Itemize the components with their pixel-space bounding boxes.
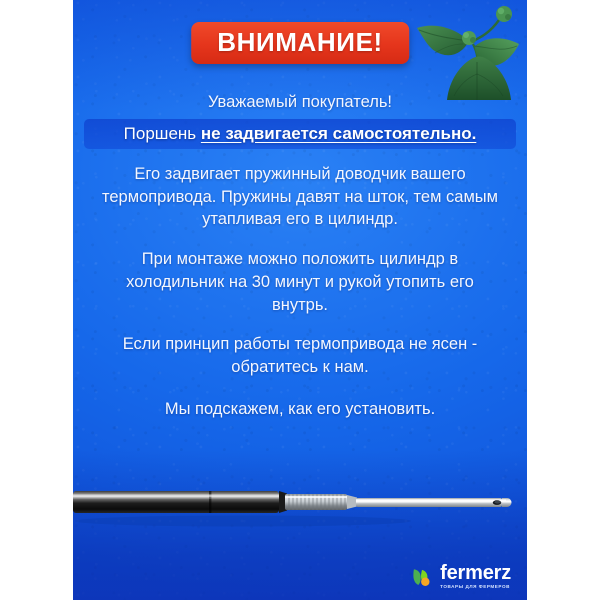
- blue-poster-panel: ВНИМАНИЕ! Уважаемый покупатель! Поршень …: [73, 0, 527, 600]
- logo-brand-name: fermerz: [440, 563, 511, 583]
- gas-cylinder-product-image: [73, 478, 527, 540]
- paragraph-1: Его задвигает пружинный доводчик вашего …: [73, 163, 527, 231]
- paragraph-2: При монтаже можно положить цилиндр в хол…: [73, 248, 527, 316]
- highlight-line: Поршень не задвигается самостоятельно.: [90, 123, 510, 144]
- greeting-line: Уважаемый покупатель!: [73, 92, 527, 113]
- fermerz-leaf-mark-icon: [411, 566, 433, 588]
- attention-banner-label: ВНИМАНИЕ!: [217, 29, 383, 55]
- paragraph-3: Если принцип работы термопривода не ясен…: [73, 333, 527, 379]
- brand-logo: fermerz товары для фермеров: [411, 563, 511, 590]
- logo-wordmark: fermerz товары для фермеров: [440, 563, 511, 590]
- cucumber-leaves-icon: [407, 0, 527, 102]
- highlight-emphasis: не задвигается самостоятельно.: [201, 124, 476, 143]
- text-stack: Уважаемый покупатель! Поршень не задвига…: [73, 92, 527, 421]
- poster-canvas: ВНИМАНИЕ! Уважаемый покупатель! Поршень …: [0, 0, 600, 600]
- paragraph-4: Мы подскажем, как его установить.: [73, 398, 527, 421]
- attention-banner: ВНИМАНИЕ!: [191, 22, 409, 64]
- highlight-row: Поршень не задвигается самостоятельно.: [84, 119, 516, 149]
- highlight-prefix: Поршень: [124, 124, 201, 143]
- logo-tagline: товары для фермеров: [440, 585, 511, 590]
